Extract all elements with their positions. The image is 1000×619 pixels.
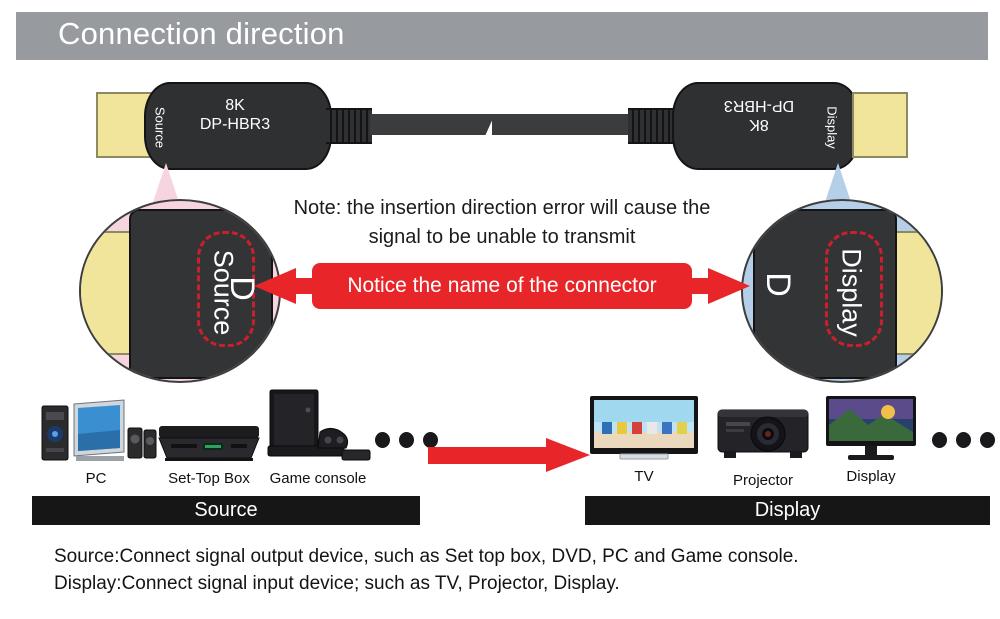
display-ellipsis-dots: [932, 432, 995, 448]
device-display-caption: Display: [822, 468, 920, 485]
right-connector-line2: DP-HBR3: [694, 96, 824, 115]
right-connector-side-label: Display: [825, 96, 840, 160]
right-magnifier-circle: Display D: [741, 199, 943, 383]
device-projector-caption: Projector: [712, 472, 814, 489]
left-connector-label: 8K DP-HBR3: [170, 96, 300, 134]
banner-left-arrow-icon: [254, 268, 296, 304]
banner-right-stem: [690, 278, 710, 294]
television-icon: [586, 392, 702, 464]
left-connector-line1: 8K: [170, 96, 300, 115]
game-console-icon: [258, 388, 378, 466]
device-tv: TV: [586, 392, 702, 485]
infographic-page: Connection direction 8K DP-HBR3 Source 8…: [0, 0, 1000, 619]
dot-icon: [399, 432, 414, 448]
right-connector-label: 8K DP-HBR3: [694, 96, 824, 134]
right-magnified-word: Display: [836, 243, 867, 343]
left-strain-relief: [326, 108, 372, 144]
device-game-console: Game console: [258, 388, 378, 487]
desktop-computer-icon: [32, 394, 160, 466]
dot-icon: [980, 432, 995, 448]
right-strain-relief: [628, 108, 674, 144]
device-projector: Projector: [712, 396, 814, 489]
banner-left-stem: [294, 278, 314, 294]
note-line-1: Note: the insertion direction error will…: [258, 194, 746, 223]
right-connector-gold-tip: [852, 92, 908, 158]
device-pc: PC: [32, 394, 160, 487]
projector-icon: [712, 396, 814, 468]
device-game-console-caption: Game console: [258, 470, 378, 487]
device-set-top-box: Set-Top Box: [155, 394, 263, 487]
left-connector-line2: DP-HBR3: [170, 115, 300, 134]
footer-line-2: Display:Connect signal input device; suc…: [54, 570, 964, 597]
flow-arrow-head: [546, 438, 590, 472]
notice-banner: Notice the name of the connector: [246, 263, 758, 313]
monitor-icon: [822, 392, 920, 464]
dot-icon: [375, 432, 390, 448]
right-magnified-partial-letter: D: [758, 272, 797, 297]
note-line-2: signal to be unable to transmit: [258, 223, 746, 252]
cable-segment-right: [492, 114, 630, 135]
note-text: Note: the insertion direction error will…: [258, 194, 746, 252]
banner-box: Notice the name of the connector: [312, 263, 692, 309]
set-top-box-icon: [155, 394, 263, 466]
dot-icon: [932, 432, 947, 448]
dot-icon: [956, 432, 971, 448]
source-group-bar: Source: [32, 496, 420, 525]
device-set-top-box-caption: Set-Top Box: [155, 470, 263, 487]
flow-arrow-icon: [428, 438, 590, 472]
banner-text: Notice the name of the connector: [312, 263, 692, 309]
footer-caption: Source:Connect signal output device, suc…: [54, 543, 964, 597]
right-connector-line1: 8K: [694, 115, 824, 134]
banner-right-arrow-icon: [708, 268, 750, 304]
footer-line-1: Source:Connect signal output device, suc…: [54, 543, 964, 570]
left-connector-side-label: Source: [153, 96, 168, 160]
device-pc-caption: PC: [32, 470, 160, 487]
display-group-bar: Display: [585, 496, 990, 525]
device-tv-caption: TV: [586, 468, 702, 485]
flow-arrow-shaft: [428, 447, 548, 464]
device-display: Display: [822, 392, 920, 485]
